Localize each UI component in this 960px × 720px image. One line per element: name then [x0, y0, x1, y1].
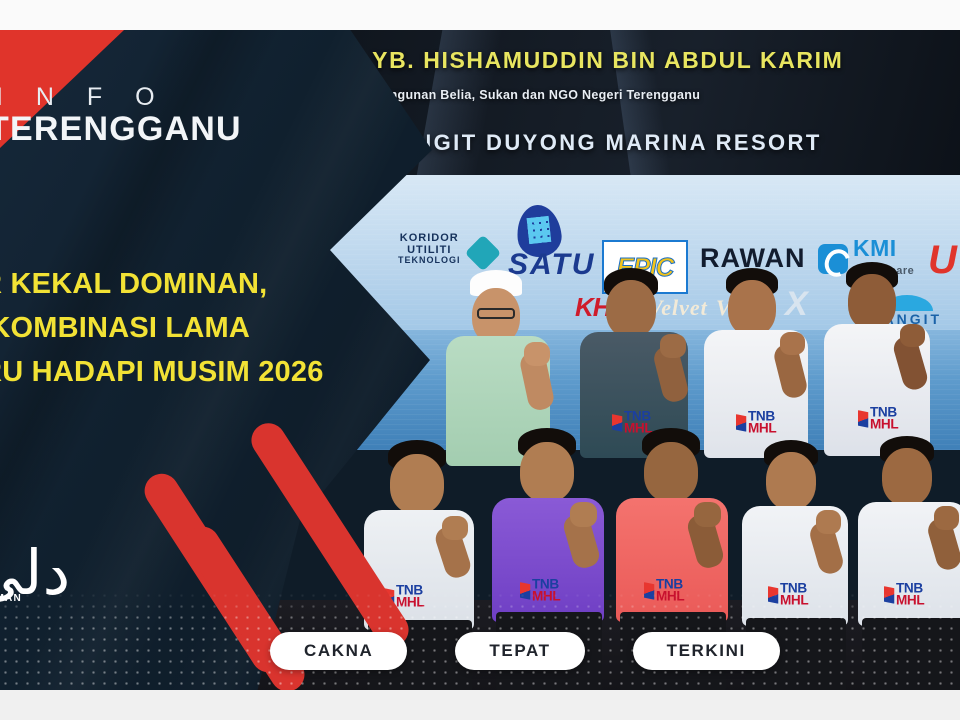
head	[520, 442, 574, 502]
tnb-mhl-logo: TNBMHL	[520, 579, 560, 603]
tnb-flag-icon	[768, 586, 778, 604]
koridor-line3: TEKNOLOGI	[398, 256, 461, 266]
fist	[442, 516, 468, 540]
tnb-bottom-label: MHL	[896, 595, 924, 607]
tnb-bottom-label: MHL	[780, 595, 808, 607]
head	[644, 442, 698, 502]
tnb-bottom-label: MHL	[396, 597, 424, 609]
tnb-flag-icon	[884, 586, 894, 604]
tnb-bottom-label: MHL	[748, 423, 776, 435]
tnb-flag-icon	[520, 582, 530, 600]
poster-canvas: KORIDOR UTILITI TEKNOLOGI SATU EPIC RAWA…	[0, 0, 960, 720]
fist	[816, 510, 841, 534]
tnb-bottom-label: MHL	[532, 591, 560, 603]
fist	[780, 332, 805, 355]
tnb-flag-icon	[644, 582, 654, 600]
tnb-bottom-label: MHL	[656, 591, 684, 603]
tnb-mhl-logo: TNBMHL	[644, 579, 684, 603]
pill-tepat[interactable]: TEPAT	[455, 632, 584, 670]
sponsor-velvet-label: Velvet	[648, 295, 708, 321]
fist	[570, 502, 597, 527]
sponsor-x-label: X	[785, 285, 808, 324]
tnb-flag-icon	[858, 410, 868, 428]
head	[882, 448, 932, 506]
sponsor-u-mark: U	[928, 238, 957, 283]
darul-iman-logo: دلي UL IMAN	[0, 545, 70, 604]
sponsor-satu-label: SATU	[508, 248, 595, 282]
kmi-logo-icon	[818, 244, 848, 274]
sponsor-koridor: KORIDOR UTILITI TEKNOLOGI	[398, 232, 461, 266]
fist	[900, 324, 925, 347]
tagline-pill-row: CAKNA TEPAT TERKINI	[270, 632, 780, 670]
tnb-flag-icon	[612, 414, 622, 432]
top-white-strip	[0, 0, 960, 30]
tnb-mhl-logo: TNBMHL	[768, 583, 808, 607]
tnb-mhl-logo: TNBMHL	[612, 411, 652, 435]
vip-fist	[524, 342, 550, 366]
tnb-mhl-logo: TNBMHL	[736, 411, 776, 435]
headline-line-2: H KOMBINASI LAMA	[0, 306, 360, 350]
brand-info-label: I N F O	[0, 83, 168, 112]
pill-terkini[interactable]: TERKINI	[633, 632, 780, 670]
head	[390, 454, 444, 514]
head	[606, 280, 656, 338]
koridor-line1: KORIDOR	[398, 232, 461, 244]
headline-text: AR KEKAL DOMINAN, H KOMBINASI LAMA ARU H…	[0, 262, 360, 394]
fist	[694, 502, 721, 527]
pill-cakna[interactable]: CAKNA	[270, 632, 407, 670]
head	[848, 274, 896, 330]
kmi-name-label: KMI	[853, 235, 897, 261]
head	[766, 452, 816, 510]
vip-glasses-icon	[477, 308, 515, 319]
head	[728, 280, 776, 336]
headline-line-3: ARU HADAPI MUSIM 2026	[0, 350, 360, 394]
tnb-flag-icon	[736, 414, 746, 432]
fist	[660, 334, 686, 358]
tnb-mhl-logo: TNBMHL	[884, 583, 924, 607]
bottom-white-strip	[0, 690, 960, 720]
tnb-mhl-logo: TNBMHL	[858, 407, 898, 431]
headline-line-1: AR KEKAL DOMINAN,	[0, 262, 360, 306]
fist	[934, 506, 959, 530]
brand-terengganu-label: TERENGGANU	[0, 110, 242, 149]
tnb-bottom-label: MHL	[870, 419, 898, 431]
legs	[862, 618, 960, 698]
